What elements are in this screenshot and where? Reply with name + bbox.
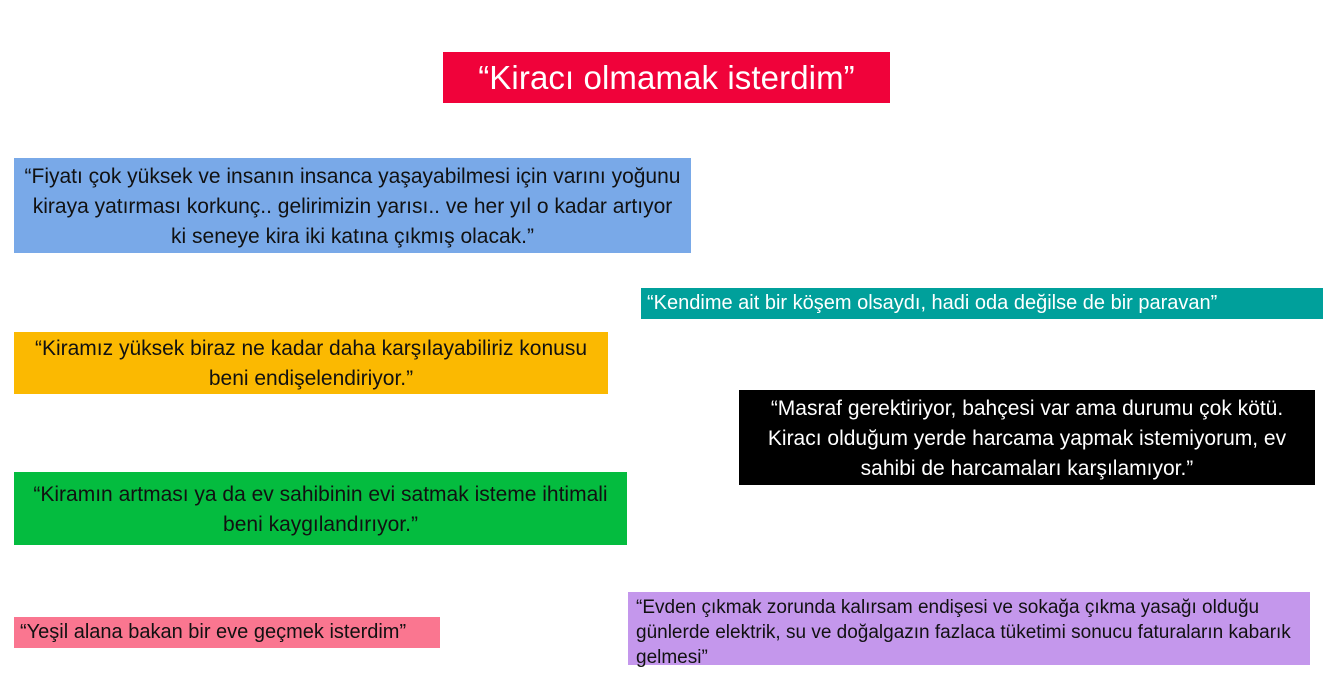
- quote-card-black: “Masraf gerektiriyor, bahçesi var ama du…: [739, 390, 1315, 485]
- quote-card-blue: “Fiyatı çok yüksek ve insanın insanca ya…: [14, 158, 691, 253]
- quote-card-teal: “Kendime ait bir köşem olsaydı, hadi oda…: [641, 288, 1323, 319]
- quote-card-pink: “Yeşil alana bakan bir eve geçmek isterd…: [14, 617, 440, 648]
- quote-card-purple: “Evden çıkmak zorunda kalırsam endişesi …: [628, 592, 1310, 665]
- slide-title: “Kiracı olmamak isterdim”: [443, 52, 890, 103]
- quote-card-green: “Kiramın artması ya da ev sahibinin evi …: [14, 472, 627, 545]
- quote-card-yellow: “Kiramız yüksek biraz ne kadar daha karş…: [14, 332, 608, 394]
- slide-canvas: “Kiracı olmamak isterdim” “Fiyatı çok yü…: [0, 0, 1331, 700]
